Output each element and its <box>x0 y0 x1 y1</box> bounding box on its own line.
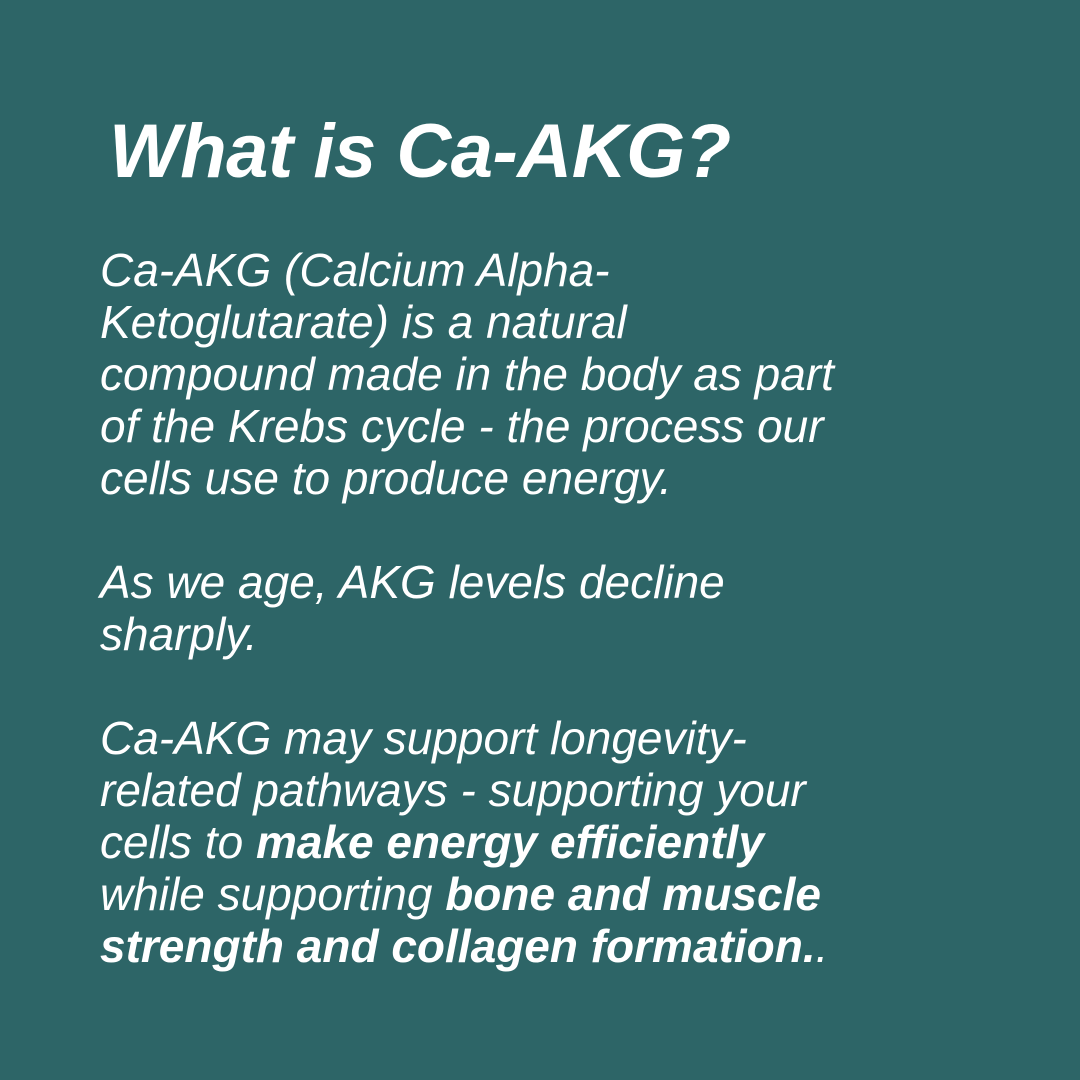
text-run-bold: make energy efficiently <box>256 816 764 868</box>
info-card: What is Ca-AKG? Ca-AKG (Calcium Alpha- K… <box>0 0 1080 1080</box>
text-run-light: cells to <box>100 816 256 868</box>
paragraph-decline: As we age, AKG levels decline sharply. <box>100 556 1020 660</box>
paragraph-line: compound made in the body as part <box>100 348 1020 400</box>
text-run-light: while supporting <box>100 868 445 920</box>
paragraph-line: strength and collagen formation.. <box>100 920 1020 972</box>
paragraph-line: of the Krebs cycle - the process our <box>100 400 1020 452</box>
paragraph-line: related pathways - supporting your <box>100 764 1020 816</box>
page-title: What is Ca-AKG? <box>109 106 1020 198</box>
paragraph-benefits: Ca-AKG may support longevity- related pa… <box>100 712 1020 972</box>
paragraph-line: Ca-AKG (Calcium Alpha- <box>100 244 1020 296</box>
paragraph-line: cells use to produce energy. <box>100 452 1020 504</box>
paragraph-definition: Ca-AKG (Calcium Alpha- Ketoglutarate) is… <box>100 244 1020 504</box>
text-run-bold: strength and collagen formation. <box>100 920 816 972</box>
paragraph-line: Ketoglutarate) is a natural <box>100 296 1020 348</box>
paragraph-line: while supporting bone and muscle <box>100 868 1020 920</box>
paragraph-line: cells to make energy efficiently <box>100 816 1020 868</box>
card-content: What is Ca-AKG? Ca-AKG (Calcium Alpha- K… <box>100 106 1020 972</box>
paragraph-line: Ca-AKG may support longevity- <box>100 712 1020 764</box>
text-run-light: . <box>816 920 829 972</box>
text-run-bold: bone and muscle <box>445 868 821 920</box>
paragraph-line: sharply. <box>100 608 1020 660</box>
paragraph-line: As we age, AKG levels decline <box>100 556 1020 608</box>
